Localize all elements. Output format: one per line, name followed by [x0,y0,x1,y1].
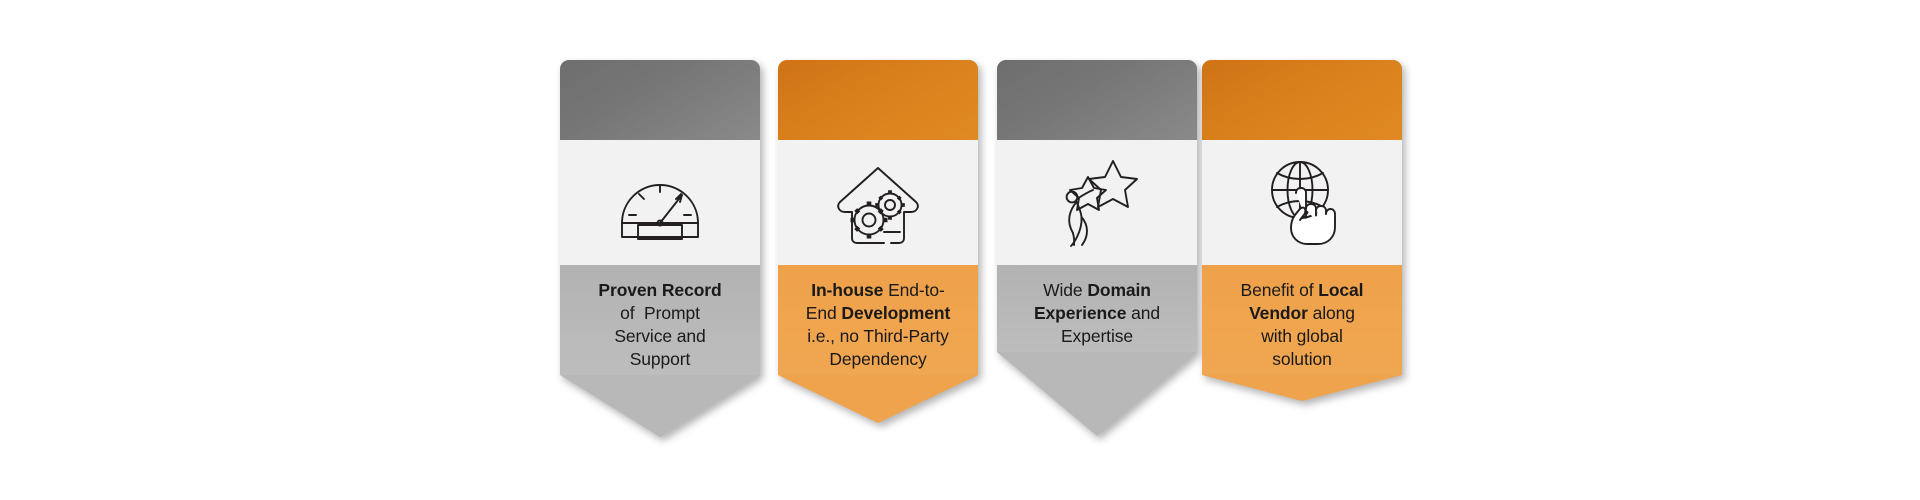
card-point-tip [560,375,760,437]
card-caption-band: Proven Recordof PromptService andSupport [560,265,760,375]
globe-with-hand-pointer-icon [1258,157,1346,249]
card-header-band [560,60,760,140]
pennant-card-in-house-development[interactable]: In-house End-to-End Developmenti.e., no … [778,60,978,423]
person-reaching-star-icon [1055,157,1139,249]
card-header-band [1202,60,1402,140]
card-point-tip [778,375,978,423]
card-point-tip [1202,375,1402,401]
value-proposition-board: Proven Recordof PromptService andSupport [0,0,1920,500]
card-caption: Wide DomainExperience andExpertise [1007,279,1187,348]
card-caption: Benefit of LocalVendor alongwith globals… [1212,279,1392,371]
card-caption-band: In-house End-to-End Developmenti.e., no … [778,265,978,375]
card-header-band [997,60,1197,140]
card-icon-band [997,140,1197,265]
pennant-card-domain-experience[interactable]: Wide DomainExperience andExpertise [997,60,1197,436]
pennant-shape: Proven Recordof PromptService andSupport [560,60,760,437]
card-icon-band [778,140,978,265]
pennant-shape: In-house End-to-End Developmenti.e., no … [778,60,978,423]
house-with-gears-icon [832,160,924,246]
pennant-shape: Benefit of LocalVendor alongwith globals… [1202,60,1402,401]
card-caption-band: Benefit of LocalVendor alongwith globals… [1202,265,1402,375]
card-header-band [778,60,978,140]
card-caption-band: Wide DomainExperience andExpertise [997,265,1197,352]
pennant-card-proven-record[interactable]: Proven Recordof PromptService andSupport [560,60,760,437]
pennant-shape: Wide DomainExperience andExpertise [997,60,1197,436]
card-icon-band [560,140,760,265]
pennant-card-local-vendor[interactable]: Benefit of LocalVendor alongwith globals… [1202,60,1402,401]
card-caption: In-house End-to-End Developmenti.e., no … [788,279,968,371]
speedometer-gauge-icon [616,161,704,245]
card-point-tip [997,352,1197,436]
card-caption: Proven Recordof PromptService andSupport [570,279,750,371]
card-icon-band [1202,140,1402,265]
